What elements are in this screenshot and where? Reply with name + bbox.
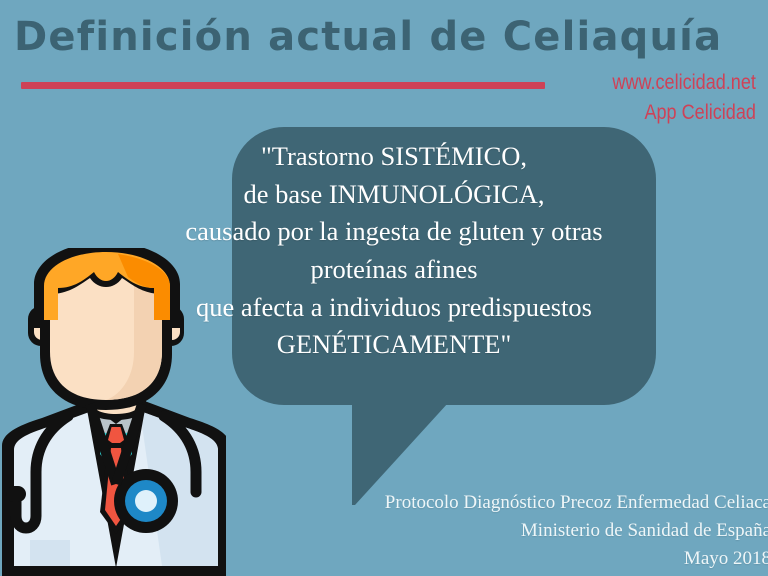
brand-website[interactable]: www.celicidad.net [612,68,756,98]
doctor-illustration-icon [0,248,226,576]
brand-block: www.celicidad.net App Celicidad [612,68,756,129]
credit-line-date: Mayo 2018 [385,545,768,573]
doctor-coat-pocket [30,540,70,566]
brand-app: App Celicidad [612,98,756,128]
page-title: Definición actual de Celiaquía [14,17,768,57]
credit-line-ministry: Ministerio de Sanidad de España [385,517,768,545]
title-underline-rule [21,82,545,89]
stethoscope-chestpiece-icon [114,469,178,533]
poster-canvas: Definición actual de Celiaquía www.celic… [0,0,768,576]
credit-line-protocol: Protocolo Diagnóstico Precoz Enfermedad … [385,489,768,517]
quote-line-2: de base INMUNOLÓGICA, [74,176,714,214]
stethoscope-earpiece-icon [6,486,26,502]
quote-line-1: "Trastorno SISTÉMICO, [74,138,714,176]
source-credit: Protocolo Diagnóstico Precoz Enfermedad … [385,489,768,573]
quote-line-3: causado por la ingesta de gluten y otras [74,213,714,251]
